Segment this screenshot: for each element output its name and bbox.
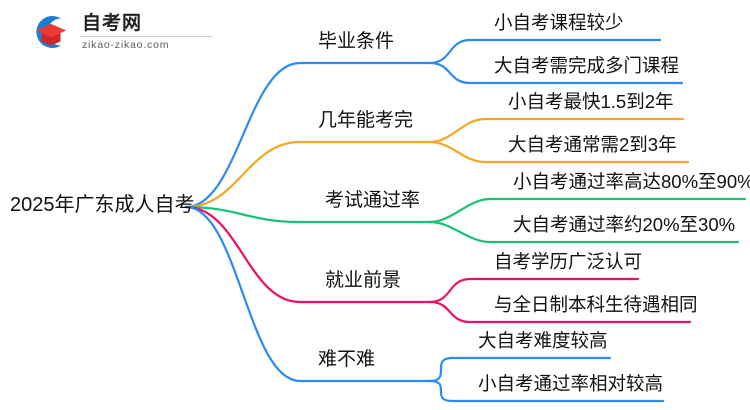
leaf-label-1-1: 大自考通常需2到3年	[508, 136, 677, 155]
leaf-label-0-1: 大自考需完成多门课程	[494, 57, 679, 76]
logo-divider	[80, 36, 212, 37]
logo-url: zikao-zikao.com	[80, 40, 212, 51]
branch-label-4: 难不难	[318, 350, 375, 369]
leaf-label-2-0: 小自考通过率高达80%至90%	[513, 173, 750, 192]
branch-label-2: 考试通过率	[325, 191, 420, 210]
mindmap-canvas: 自考网 zikao-zikao.com 2025年广东成人自考毕业条件小自考课程…	[0, 0, 750, 410]
branch-label-3: 就业前景	[325, 271, 401, 290]
leaf-label-0-0: 小自考课程较少	[494, 14, 624, 33]
leaf-label-2-1: 大自考通过率约20%至30%	[513, 216, 735, 235]
leaf-label-3-1: 与全日制本科生待遇相同	[494, 296, 698, 315]
graduation-cap-icon	[30, 11, 72, 53]
leaf-label-4-0: 大自考难度较高	[478, 332, 608, 351]
mindmap-text-layer: 自考网 zikao-zikao.com 2025年广东成人自考毕业条件小自考课程…	[0, 0, 750, 410]
leaf-label-3-0: 自考学历广泛认可	[494, 253, 642, 272]
leaf-label-1-0: 小自考最快1.5到2年	[508, 93, 674, 112]
root-node-label: 2025年广东成人自考	[10, 195, 195, 215]
logo-wordmark: 自考网 zikao-zikao.com	[80, 13, 212, 51]
leaf-label-4-1: 小自考通过率相对较高	[478, 375, 663, 394]
site-logo: 自考网 zikao-zikao.com	[30, 11, 212, 53]
logo-name-cn: 自考网	[80, 14, 212, 33]
branch-label-1: 几年能考完	[318, 111, 413, 130]
branch-label-0: 毕业条件	[318, 32, 394, 51]
